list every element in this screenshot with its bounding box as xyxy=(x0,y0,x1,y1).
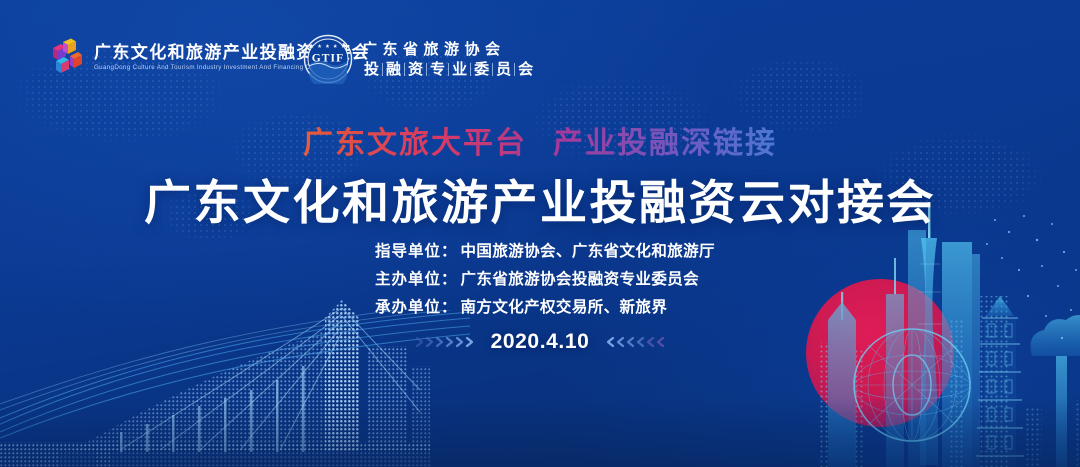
secondary-logo-line2: 投 融 资 专 业 委 员 会 xyxy=(362,61,535,78)
event-date-bar: 2020.4.10 xyxy=(0,330,1080,354)
organizer-label: 承办单位： xyxy=(375,297,458,319)
hero-kicker-left: 广东文旅大平台 xyxy=(303,127,527,160)
secondary-logo-line1: 广东省旅游协会 xyxy=(362,41,535,58)
svg-text:GTIF: GTIF xyxy=(312,53,345,65)
page-title: 广东文化和旅游产业投融资云对接会 xyxy=(0,174,1080,232)
seal-char: 投 xyxy=(362,61,381,78)
seal-char: 业 xyxy=(450,61,469,78)
seal-char: 员 xyxy=(494,61,513,78)
isometric-blocks-logo-icon xyxy=(50,38,84,76)
gtif-circular-seal-icon: ★ ★ ★ ★ ★ GTIF xyxy=(303,34,353,84)
organizer-label: 主办单位： xyxy=(375,269,458,291)
organizer-row: 承办单位： 南方文化产权交易所、新旅界 xyxy=(375,297,705,319)
seal-char: 委 xyxy=(472,61,491,78)
organizer-label: 指导单位： xyxy=(375,241,458,263)
seal-char: 会 xyxy=(516,61,535,78)
organizer-value: 中国旅游协会、广东省文化和旅游厅 xyxy=(461,241,715,263)
hero-kicker-right: 产业投融深链接 xyxy=(553,127,777,160)
event-banner: 广东文化和旅游产业投融资对接会 GuangDong Culture And To… xyxy=(0,0,1080,467)
halftone-cable-bridge-icon xyxy=(0,300,430,467)
seal-char: 融 xyxy=(384,61,403,78)
bottom-vignette xyxy=(0,397,1080,467)
svg-text:★ ★ ★ ★ ★: ★ ★ ★ ★ ★ xyxy=(310,44,347,49)
organizer-row: 指导单位： 中国旅游协会、广东省文化和旅游厅 xyxy=(375,241,705,263)
logo-bar: 广东文化和旅游产业投融资对接会 GuangDong Culture And To… xyxy=(0,32,1080,88)
organizer-list: 指导单位： 中国旅游协会、广东省文化和旅游厅 主办单位： 广东省旅游协会投融资专… xyxy=(0,241,1080,319)
seal-char: 资 xyxy=(406,61,425,78)
seal-char: 专 xyxy=(428,61,447,78)
hero-kicker: 广东文旅大平台产业投融深链接 xyxy=(0,126,1080,162)
organizer-row: 主办单位： 广东省旅游协会投融资专业委员会 xyxy=(375,269,705,291)
organizer-value: 广东省旅游协会投融资专业委员会 xyxy=(461,269,700,291)
secondary-logo[interactable]: ★ ★ ★ ★ ★ GTIF 广东省旅游协会 投 融 资 专 业 委 员 会 xyxy=(303,34,535,84)
chevron-left-group-icon xyxy=(602,332,664,352)
event-date: 2020.4.10 xyxy=(491,330,590,354)
chevron-right-group-icon xyxy=(416,332,478,352)
organizer-value: 南方文化产权交易所、新旅界 xyxy=(461,297,668,319)
pagoda-tower-icon xyxy=(976,296,1024,467)
